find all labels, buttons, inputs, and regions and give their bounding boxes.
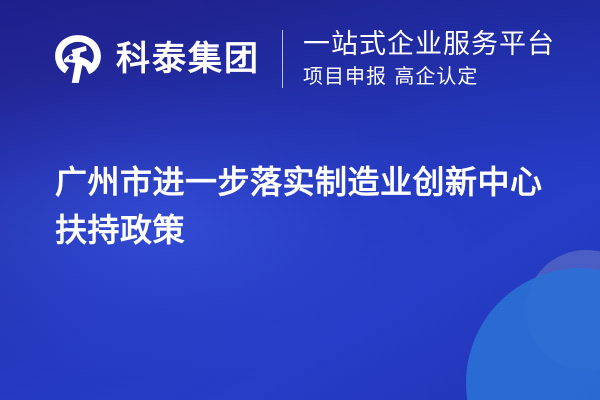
tagline-primary: 一站式企业服务平台: [303, 29, 555, 61]
brand-divider: [282, 30, 283, 88]
promo-banner: 科泰集团 一站式企业服务平台 项目申报 高企认定 广州市进一步落实制造业创新中心…: [0, 0, 600, 400]
tagline-block: 一站式企业服务平台 项目申报 高企认定: [303, 29, 555, 89]
kt-group-logo-icon: [52, 33, 104, 85]
headline-title: 广州市进一步落实制造业创新中心扶持政策: [55, 158, 560, 254]
tagline-secondary: 项目申报 高企认定: [303, 63, 555, 89]
brand-lockup: 科泰集团 一站式企业服务平台 项目申报 高企认定: [52, 27, 555, 91]
brand-name: 科泰集团: [116, 42, 260, 76]
